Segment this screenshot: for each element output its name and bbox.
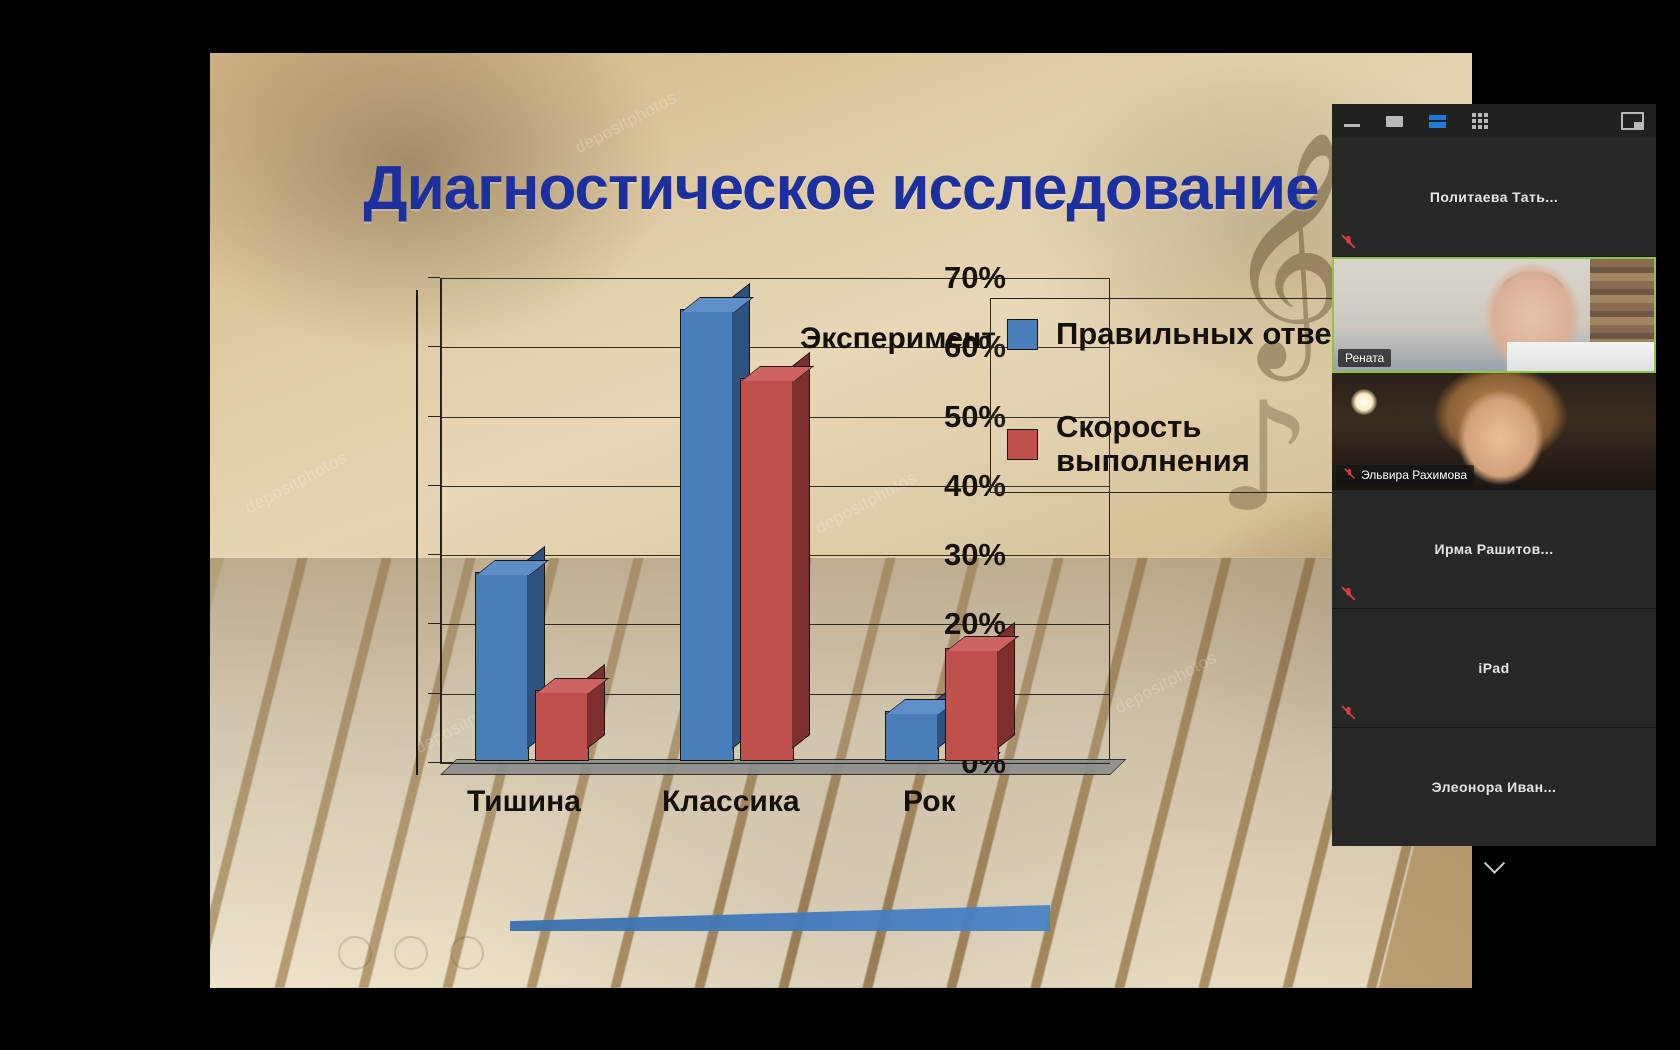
bar-classic-speed bbox=[740, 378, 794, 761]
y-tick-label: 30% bbox=[944, 537, 1006, 573]
video-panel: Политаева Тать... Рената Эльвира Рахимов… bbox=[1332, 104, 1656, 846]
grid-view-icon[interactable] bbox=[1472, 113, 1488, 129]
maximize-icon[interactable] bbox=[1386, 116, 1403, 127]
participant-name-row: Эльвира Рахимова bbox=[1336, 465, 1474, 485]
shared-slide: 𝄞 ♫ ♪ depositphotos depositphotos deposi… bbox=[210, 53, 1472, 988]
category-label: Тишина bbox=[467, 785, 581, 819]
mic-muted-icon bbox=[1340, 233, 1357, 250]
bar-silence-correct bbox=[475, 572, 529, 761]
participant-name: Рената bbox=[1338, 349, 1391, 367]
participant-tile[interactable]: Элеонора Иван... bbox=[1332, 728, 1656, 846]
bar-classic-correct bbox=[680, 309, 734, 761]
chevron-down-icon[interactable] bbox=[1332, 846, 1656, 888]
participant-name: Политаева Тать... bbox=[1332, 189, 1656, 205]
slide-more-icon[interactable] bbox=[450, 936, 484, 970]
y-axis-outer bbox=[416, 290, 418, 775]
video-panel-toolbar bbox=[1332, 104, 1656, 138]
slide-controls[interactable] bbox=[338, 936, 484, 970]
legend-swatch-red bbox=[1007, 429, 1038, 460]
minimize-icon[interactable] bbox=[1344, 116, 1360, 127]
category-label: Рок bbox=[903, 785, 956, 819]
mic-muted-icon bbox=[1340, 704, 1357, 721]
split-view-icon[interactable] bbox=[1429, 115, 1446, 128]
bar-rock-correct bbox=[885, 711, 939, 761]
participant-name: Эльвира Рахимова bbox=[1361, 468, 1467, 482]
chart-annotation: Эксперимент bbox=[800, 322, 996, 356]
participant-tile[interactable]: Ирма Рашитов... bbox=[1332, 490, 1656, 609]
slide-options-icon[interactable] bbox=[338, 936, 372, 970]
participant-name: iPad bbox=[1332, 660, 1656, 676]
legend-swatch-blue bbox=[1007, 319, 1038, 350]
participant-tile[interactable]: iPad bbox=[1332, 609, 1656, 728]
bar-silence-speed bbox=[535, 690, 589, 761]
watermark: depositphotos bbox=[572, 88, 681, 158]
participant-tile[interactable]: Политаева Тать... bbox=[1332, 138, 1656, 257]
participant-name: Элеонора Иван... bbox=[1332, 779, 1656, 795]
category-label: Классика bbox=[662, 785, 800, 819]
legend-label: Скорость выполнения bbox=[1056, 410, 1250, 479]
mic-muted-icon bbox=[1340, 585, 1357, 602]
mic-muted-icon bbox=[1343, 467, 1356, 483]
bar-rock-speed bbox=[945, 648, 999, 761]
participant-tile[interactable]: Рената bbox=[1332, 257, 1656, 373]
slide-zoom-icon[interactable] bbox=[394, 936, 428, 970]
y-tick-label: 70% bbox=[944, 260, 1006, 296]
slide-title: Диагностическое исследование bbox=[210, 153, 1472, 224]
picture-in-picture-icon[interactable] bbox=[1621, 112, 1644, 130]
participant-name: Ирма Рашитов... bbox=[1332, 541, 1656, 557]
participant-tile[interactable]: Эльвира Рахимова bbox=[1332, 373, 1656, 490]
